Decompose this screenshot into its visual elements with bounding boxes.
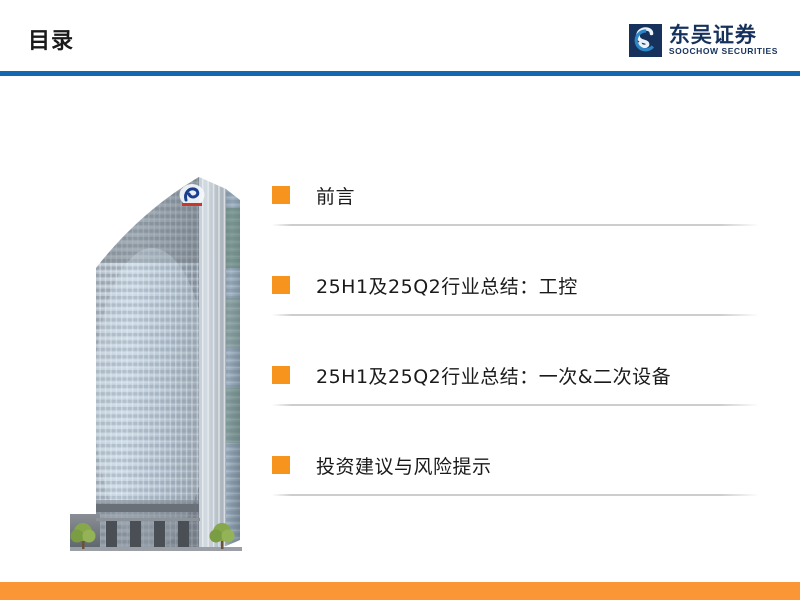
brand-name-cn: 东吴证券	[669, 24, 778, 46]
soochow-building-facade-logo-icon	[180, 184, 205, 206]
toc-item-label: 25H1及25Q2行业总结：一次&二次设备	[316, 362, 671, 389]
toc-item-2[interactable]: 25H1及25Q2行业总结：工控	[270, 242, 770, 332]
toc-item-3[interactable]: 25H1及25Q2行业总结：一次&二次设备	[270, 332, 770, 422]
footer-orange-bar	[0, 582, 800, 600]
header-blue-rule	[0, 71, 800, 76]
toc-item-label: 投资建议与风险提示	[316, 452, 492, 479]
toc-item-4[interactable]: 投资建议与风险提示	[270, 422, 770, 512]
orange-square-bullet-icon	[272, 456, 290, 474]
brand-name-en: SOOCHOW SECURITIES	[669, 47, 778, 56]
toc-divider	[272, 224, 759, 226]
brand-logo: 东吴证券 SOOCHOW SECURITIES	[629, 24, 778, 57]
toc-item-label: 前言	[316, 182, 355, 209]
toc-row: 25H1及25Q2行业总结：工控	[270, 242, 770, 316]
page-title: 目录	[28, 30, 74, 52]
brand-text: 东吴证券 SOOCHOW SECURITIES	[669, 24, 778, 56]
soochow-headquarters-building-photo	[40, 148, 255, 566]
table-of-contents: 前言 25H1及25Q2行业总结：工控 25H1及25Q2行业总结：一次&二次设…	[270, 152, 770, 512]
orange-square-bullet-icon	[272, 276, 290, 294]
slide-header: 目录 东吴证券 SOOCHOW SECURITIES	[0, 0, 800, 78]
toc-divider	[272, 314, 759, 316]
orange-square-bullet-icon	[272, 186, 290, 204]
toc-item-1[interactable]: 前言	[270, 152, 770, 242]
toc-item-label: 25H1及25Q2行业总结：工控	[316, 272, 578, 299]
slide-root: 目录 东吴证券 SOOCHOW SECURITIES	[0, 0, 800, 600]
toc-divider	[272, 494, 759, 496]
soochow-s-logo-icon	[629, 24, 662, 57]
toc-row: 投资建议与风险提示	[270, 422, 770, 496]
toc-row: 前言	[270, 152, 770, 226]
orange-square-bullet-icon	[272, 366, 290, 384]
toc-row: 25H1及25Q2行业总结：一次&二次设备	[270, 332, 770, 406]
toc-divider	[272, 404, 759, 406]
